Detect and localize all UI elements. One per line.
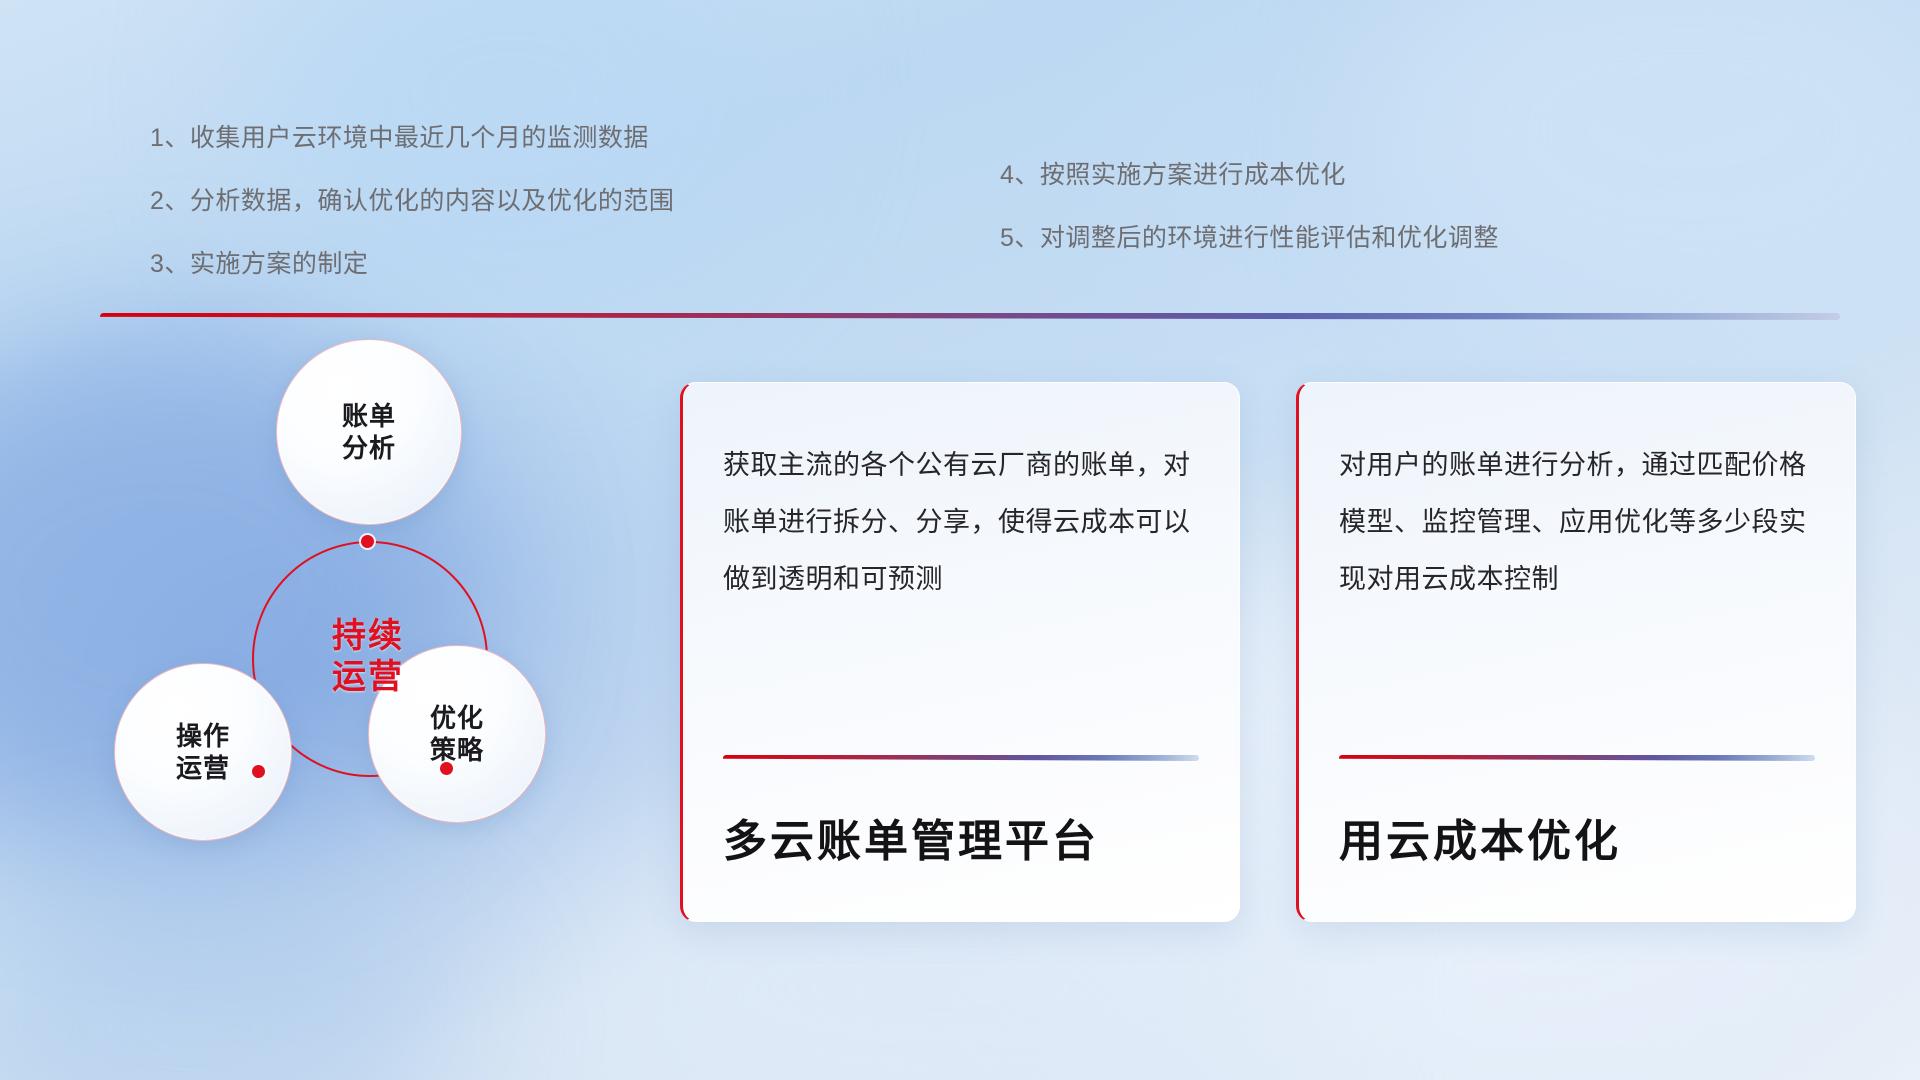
card-divider [723, 755, 1199, 761]
bubble-label-line1: 操作 [176, 720, 230, 752]
diagram-center-label: 持续 运营 [252, 541, 484, 773]
card-divider [1339, 755, 1815, 761]
info-card-multicloud-billing[interactable]: 获取主流的各个公有云厂商的账单，对账单进行拆分、分享，使得云成本可以做到透明和可… [680, 382, 1240, 922]
step-item-4: 4、按照实施方案进行成本优化 [1000, 155, 1499, 191]
section-divider [100, 313, 1840, 320]
diagram-node-dot-left [252, 765, 265, 778]
steps-right-column: 4、按照实施方案进行成本优化 5、对调整后的环境进行性能评估和优化调整 [1000, 155, 1499, 254]
bubble-label-line2: 分析 [342, 432, 396, 464]
card-body-text: 获取主流的各个公有云厂商的账单，对账单进行拆分、分享，使得云成本可以做到透明和可… [723, 437, 1199, 755]
info-card-cloud-cost-optimization[interactable]: 对用户的账单进行分析，通过匹配价格模型、监控管理、应用优化等多少段实现对用云成本… [1296, 382, 1856, 922]
card-title: 多云账单管理平台 [723, 805, 1199, 869]
card-body-text: 对用户的账单进行分析，通过匹配价格模型、监控管理、应用优化等多少段实现对用云成本… [1339, 437, 1815, 755]
step-item-2: 2、分析数据，确认优化的内容以及优化的范围 [150, 181, 674, 217]
diagram-node-dot-top [361, 535, 374, 548]
diagram-bubble-bill-analysis[interactable]: 账单 分析 [276, 339, 462, 525]
bubble-label-line2: 运营 [176, 752, 230, 784]
continuous-operation-diagram: 账单 分析 操作 运营 优化 策略 持续 运营 [100, 345, 630, 945]
center-label-line1: 持续 [332, 616, 404, 657]
steps-left-column: 1、收集用户云环境中最近几个月的监测数据 2、分析数据，确认优化的内容以及优化的… [150, 118, 674, 280]
step-item-1: 1、收集用户云环境中最近几个月的监测数据 [150, 118, 674, 154]
slide-canvas: 1、收集用户云环境中最近几个月的监测数据 2、分析数据，确认优化的内容以及优化的… [0, 0, 1920, 1080]
step-item-3: 3、实施方案的制定 [150, 244, 674, 280]
center-label-line2: 运营 [332, 657, 404, 698]
bubble-label-line1: 账单 [342, 400, 396, 432]
diagram-node-dot-right [440, 762, 453, 775]
step-item-5: 5、对调整后的环境进行性能评估和优化调整 [1000, 218, 1499, 254]
card-title: 用云成本优化 [1339, 805, 1815, 869]
